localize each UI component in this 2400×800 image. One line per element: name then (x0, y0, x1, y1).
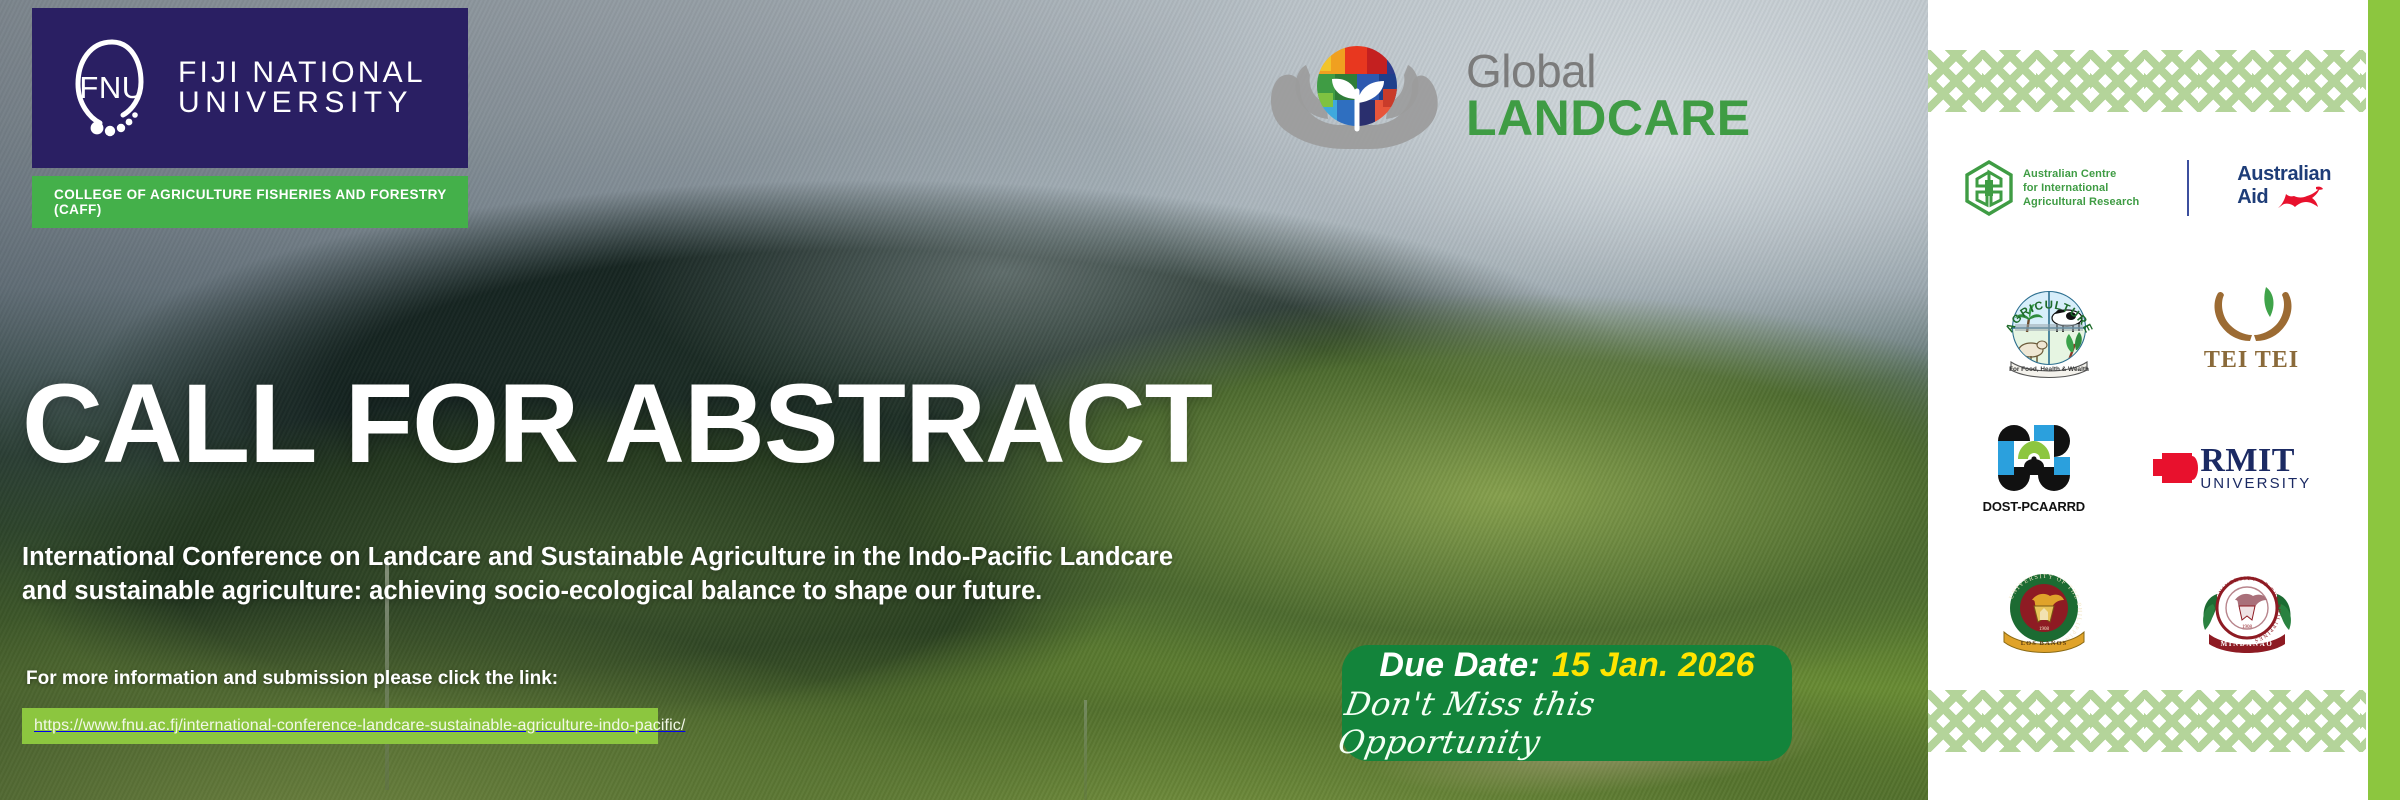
fnu-monogram-icon: FNU (66, 36, 158, 140)
caff-college-bar: COLLEGE OF AGRICULTURE FISHERIES AND FOR… (32, 176, 468, 228)
due-date-row: Due Date: 15 Jan. 2026 (1379, 646, 1754, 685)
hands-holding-leaf-icon (2204, 283, 2300, 345)
caff-college-label: COLLEGE OF AGRICULTURE FISHERIES AND FOR… (54, 187, 468, 217)
submission-link[interactable]: https://www.fnu.ac.fj/international-conf… (22, 708, 658, 744)
conference-subtitle: International Conference on Landcare and… (22, 540, 1202, 608)
due-date-tagline: Don't Miss this Opportunity (1335, 685, 1798, 761)
sponsor-logo-grid: Australian Centre for International Agri… (1928, 118, 2366, 678)
page-title: CALL FOR ABSTRACT (22, 368, 1212, 480)
svg-text:FNU: FNU (79, 70, 144, 105)
sponsor-row: DOST-PCAARRD RMIT UNIVERSITY (1928, 398, 2366, 538)
aciar-hexagon-icon (1963, 160, 2015, 216)
sponsor-row: 1908 UNIVERSITY OF THE PHILIPPINES LOS B… (1928, 538, 2366, 678)
landcare-word-landcare: LANDCARE (1466, 94, 1751, 142)
landcare-word-global: Global (1466, 49, 1751, 93)
svg-text:1908: 1908 (2039, 627, 2050, 632)
sponsor-panel: Australian Centre for International Agri… (1928, 0, 2400, 800)
aciar-line-1: Australian Centre (2023, 167, 2139, 181)
aciar-line-3: Agricultural Research (2023, 195, 2139, 209)
fence-post-detail-secondary (1084, 700, 1087, 800)
australian-aid-line-2: Aid (2237, 188, 2268, 208)
tei-tei-logo: TEI TEI (2204, 283, 2300, 374)
up-los-banos-seal-icon: 1908 UNIVERSITY OF THE PHILIPPINES LOS B… (1996, 560, 2092, 656)
landcare-globe-in-hands-icon (1262, 31, 1452, 161)
rmit-subtitle: UNIVERSITY (2200, 477, 2311, 491)
dost-pcaarrd-wordmark: DOST-PCAARRD (1983, 499, 2085, 514)
due-date-badge: Due Date: 15 Jan. 2026 Don't Miss this O… (1342, 645, 1792, 761)
right-edge-green-stripe (2368, 0, 2400, 800)
rmit-mark-icon (2162, 453, 2192, 483)
fnu-logo-block: FNU FIJI NATIONAL UNIVERSITY (32, 8, 468, 168)
aciar-line-2: for International (2023, 181, 2139, 195)
svg-text:MINDANAO: MINDANAO (2220, 640, 2273, 648)
aciar-wordmark: Australian Centre for International Agri… (2023, 167, 2139, 209)
up-mindanao-seal: 1908 UNIVERSITY OF THE PHILIPPINES MINDA… (2195, 560, 2299, 656)
chevron-pattern-top (1928, 50, 2366, 112)
fnu-name-line-2: UNIVERSITY (178, 88, 426, 118)
australian-aid-logo: Australian Aid (2237, 165, 2331, 211)
conference-banner: FNU FIJI NATIONAL UNIVERSITY COLLEGE OF … (0, 0, 2400, 800)
rmit-name: RMIT (2200, 445, 2295, 477)
due-date-label: Due Date: (1379, 646, 1540, 685)
global-landcare-logo: Global LANDCARE (1262, 28, 1882, 163)
kangaroo-icon (2272, 185, 2324, 211)
submission-url-text: https://www.fnu.ac.fj/international-conf… (34, 717, 685, 735)
ministry-of-agriculture-seal: AGRICULTURE For Food, Health & Wealth (1995, 274, 2103, 382)
sponsor-row: Australian Centre for International Agri… (1928, 118, 2366, 258)
logo-divider (2187, 160, 2189, 216)
australian-aid-line-2-row: Aid (2237, 185, 2324, 211)
sponsor-row: AGRICULTURE For Food, Health & Wealth (1928, 258, 2366, 398)
fnu-wordmark: FIJI NATIONAL UNIVERSITY (178, 58, 426, 118)
dost-pcaarrd-icon (1990, 423, 2078, 495)
fnu-name-line-1: FIJI NATIONAL (178, 58, 426, 88)
tei-tei-wordmark: TEI TEI (2204, 347, 2299, 374)
landcare-wordmark: Global LANDCARE (1466, 49, 1751, 141)
up-mindanao-seal-icon: 1908 UNIVERSITY OF THE PHILIPPINES MINDA… (2195, 560, 2299, 656)
submission-instruction-label: For more information and submission plea… (26, 668, 558, 690)
hero-section: FNU FIJI NATIONAL UNIVERSITY COLLEGE OF … (0, 0, 1928, 800)
australian-aid-wordmark: Australian Aid (2237, 165, 2331, 211)
dost-pcaarrd-lockup: DOST-PCAARRD (1983, 423, 2085, 514)
tei-tei-lockup: TEI TEI (2204, 283, 2300, 374)
australian-aid-line-1: Australian (2237, 165, 2331, 185)
rmit-wordmark: RMIT UNIVERSITY (2200, 445, 2311, 492)
rmit-university-logo: RMIT UNIVERSITY (2162, 445, 2311, 492)
agriculture-seal-icon: AGRICULTURE For Food, Health & Wealth (1995, 274, 2103, 382)
due-date-value: 15 Jan. 2026 (1552, 646, 1755, 685)
chevron-pattern-bottom (1928, 690, 2366, 752)
dost-pcaarrd-logo: DOST-PCAARRD (1983, 423, 2085, 514)
svg-text:For Food, Health & Wealth: For Food, Health & Wealth (2009, 366, 2089, 373)
aciar-logo: Australian Centre for International Agri… (1963, 160, 2139, 216)
svg-text:LOS BAÑOS: LOS BAÑOS (2020, 639, 2067, 647)
svg-text:1908: 1908 (2242, 625, 2253, 630)
up-los-banos-seal: 1908 UNIVERSITY OF THE PHILIPPINES LOS B… (1996, 560, 2092, 656)
